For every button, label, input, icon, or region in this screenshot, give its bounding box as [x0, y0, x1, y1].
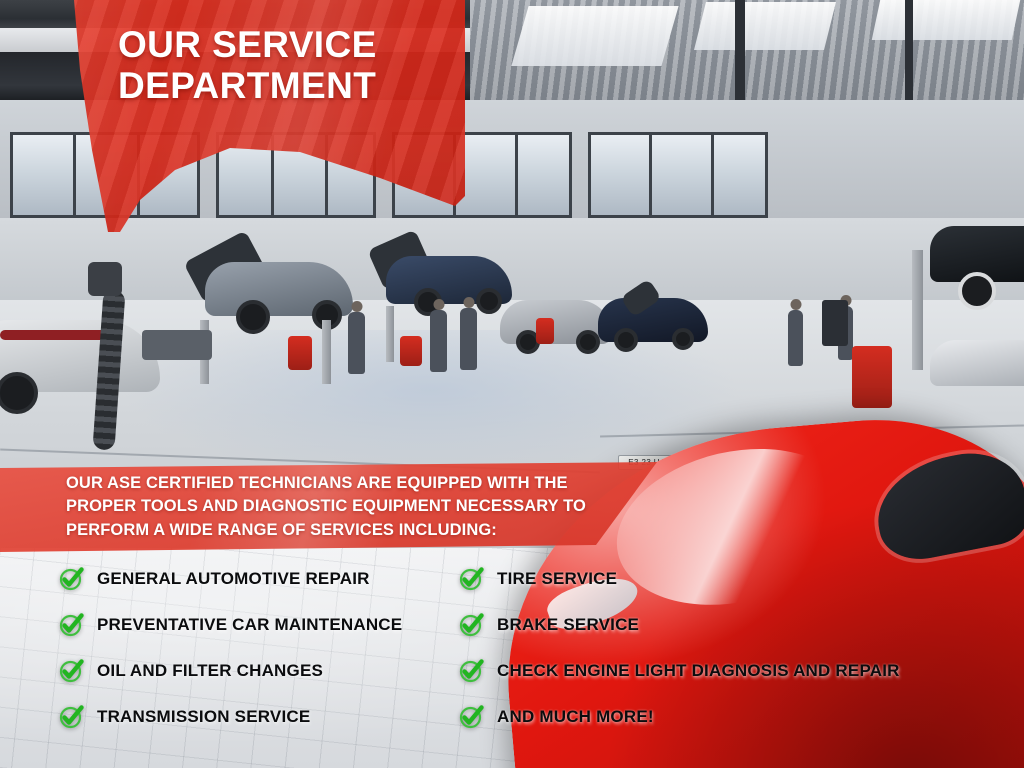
green-check-circle-icon: [60, 660, 83, 683]
intro-text-line1: OUR ASE CERTIFIED TECHNICIANS ARE EQUIPP…: [66, 472, 626, 495]
page-title: OUR SERVICE DEPARTMENT: [118, 24, 448, 107]
skylight-panel: [511, 6, 678, 66]
car-wheel: [958, 272, 996, 310]
page-title-line1: OUR SERVICE: [118, 24, 377, 65]
green-check-circle-icon: [460, 568, 483, 591]
service-label: TRANSMISSION SERVICE: [97, 707, 310, 727]
green-check-circle-icon: [460, 660, 483, 683]
green-check-circle-icon: [460, 614, 483, 637]
list-item: TRANSMISSION SERVICE: [60, 694, 470, 740]
tool-cabinet-red: [536, 318, 554, 344]
technician: [348, 312, 365, 374]
car-wheel: [576, 330, 600, 354]
green-check-circle-icon: [460, 706, 483, 729]
list-item: CHECK ENGINE LIGHT DIAGNOSIS AND REPAIR: [460, 648, 1020, 694]
garage-window: [588, 132, 768, 218]
technician: [788, 310, 803, 366]
car-wheel: [614, 328, 638, 352]
service-label: GENERAL AUTOMOTIVE REPAIR: [97, 569, 370, 589]
service-department-poster: E3 23 UA OUR SERVICE DEPARTMENT OUR ASE …: [0, 0, 1024, 768]
tool-cabinet-red: [852, 346, 892, 408]
skylight-panel: [694, 2, 836, 50]
intro-text-line3: PERFORM A WIDE RANGE OF SERVICES INCLUDI…: [66, 519, 626, 542]
list-item: TIRE SERVICE: [460, 556, 1020, 602]
list-item: AND MUCH MORE!: [460, 694, 1020, 740]
car-silver-far-right: [930, 340, 1024, 386]
service-label: BRAKE SERVICE: [497, 615, 639, 635]
exhaust-hose-mount: [88, 262, 122, 296]
equipment-unit: [822, 300, 848, 346]
service-label: OIL AND FILTER CHANGES: [97, 661, 323, 681]
service-label: AND MUCH MORE!: [497, 707, 654, 727]
service-label: PREVENTATIVE CAR MAINTENANCE: [97, 615, 402, 635]
intro-text-line2: PROPER TOOLS AND DIAGNOSTIC EQUIPMENT NE…: [66, 495, 626, 518]
green-check-circle-icon: [60, 706, 83, 729]
services-column-right: TIRE SERVICE BRAKE SERVICE: [460, 556, 1020, 740]
car-wheel: [476, 288, 502, 314]
green-check-circle-icon: [60, 614, 83, 637]
technician: [430, 310, 447, 372]
vehicle-lift-post: [322, 320, 331, 384]
intro-text: OUR ASE CERTIFIED TECHNICIANS ARE EQUIPP…: [66, 472, 626, 542]
vehicle-lift-post: [386, 306, 394, 362]
car-side-window: [868, 444, 1024, 567]
vehicle-lift-post: [912, 250, 923, 370]
car-wheel: [236, 300, 270, 334]
tool-cabinet-red: [288, 336, 312, 370]
services-column-left: GENERAL AUTOMOTIVE REPAIR PREVENTATIVE C…: [60, 556, 470, 740]
back-wall-lower: [0, 218, 1024, 308]
list-item: PREVENTATIVE CAR MAINTENANCE: [60, 602, 470, 648]
list-item: GENERAL AUTOMOTIVE REPAIR: [60, 556, 470, 602]
list-item: BRAKE SERVICE: [460, 602, 1020, 648]
technician: [460, 308, 477, 370]
service-label: TIRE SERVICE: [497, 569, 617, 589]
tool-cabinet-red: [400, 336, 422, 366]
green-check-circle-icon: [60, 568, 83, 591]
workbench: [142, 330, 212, 360]
car-wheel: [672, 328, 694, 350]
skylight-panel: [872, 0, 1021, 40]
list-item: OIL AND FILTER CHANGES: [60, 648, 470, 694]
services-checklist: GENERAL AUTOMOTIVE REPAIR PREVENTATIVE C…: [0, 556, 1024, 756]
service-label: CHECK ENGINE LIGHT DIAGNOSIS AND REPAIR: [497, 661, 900, 681]
page-title-line2: DEPARTMENT: [118, 65, 448, 106]
